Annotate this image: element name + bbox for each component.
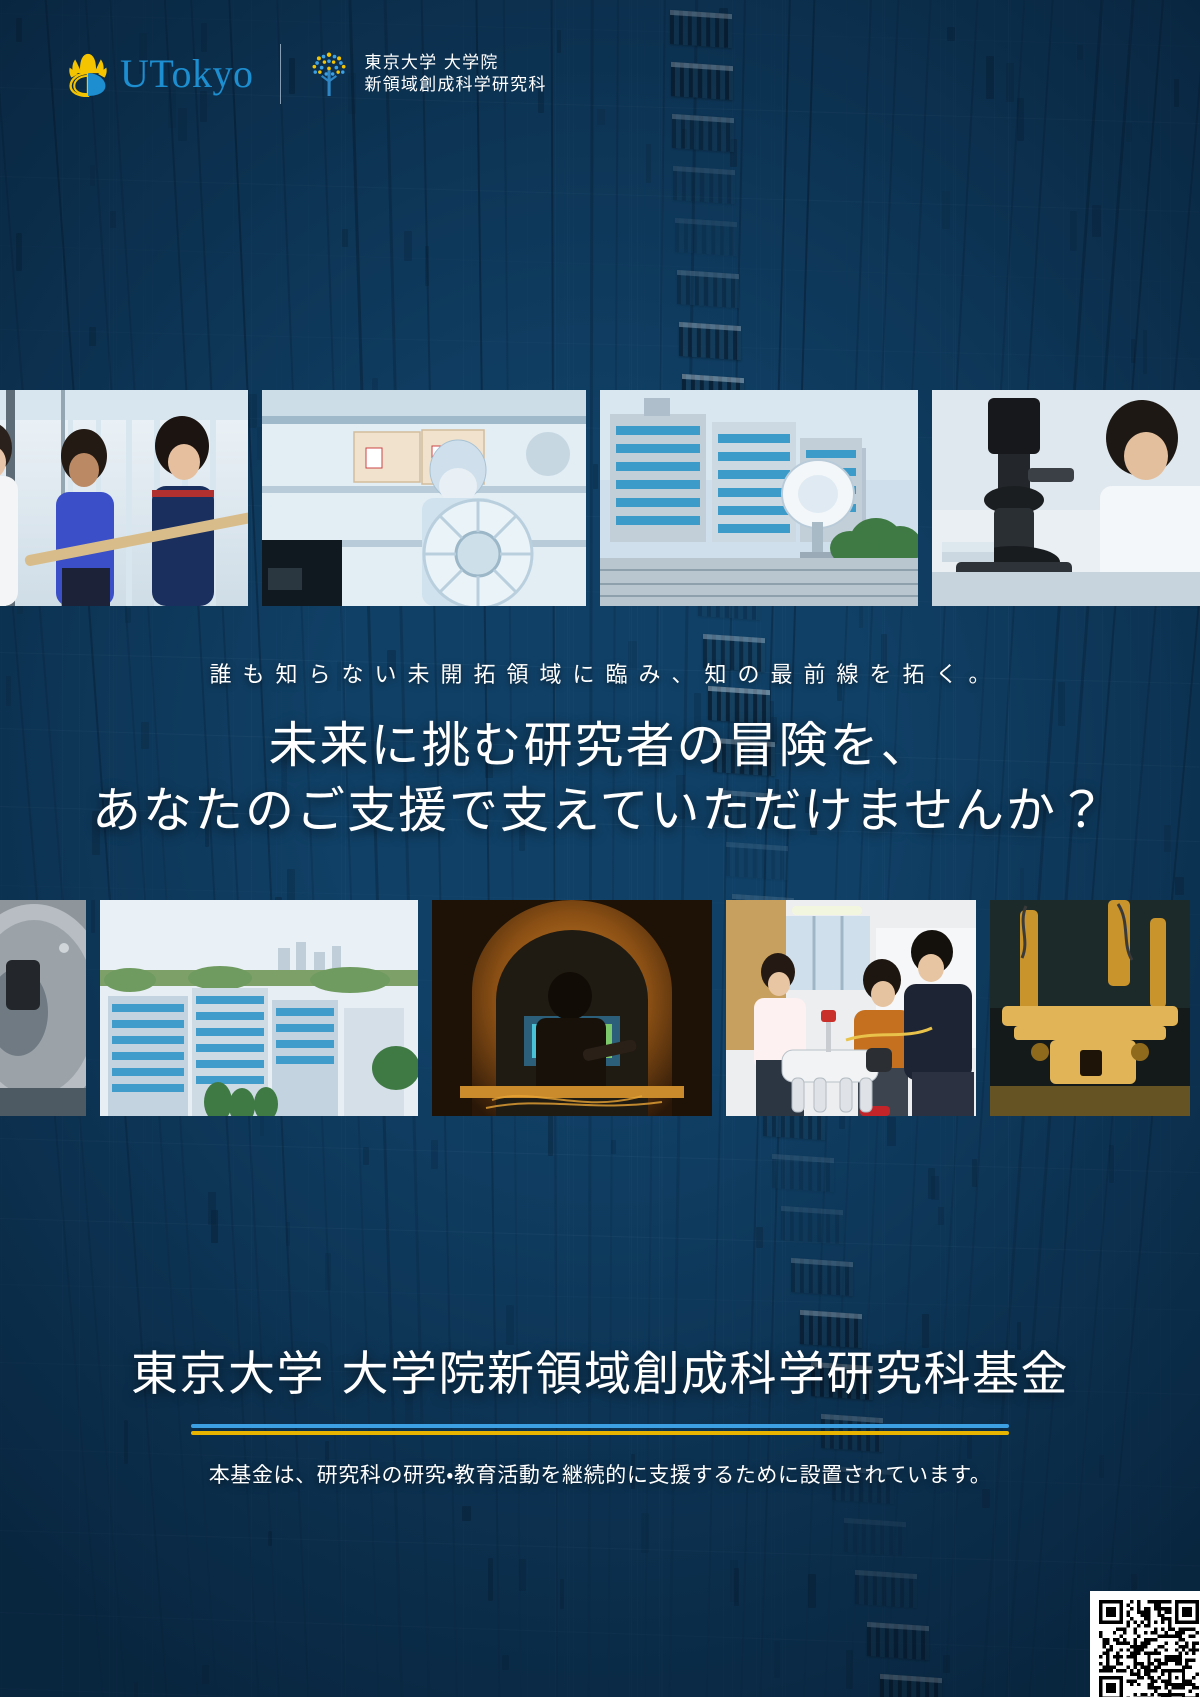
photo-aerial-campus (100, 900, 418, 1116)
utokyo-wordmark: UTokyo (120, 54, 254, 94)
gsfs-logo-text: 東京大学 大学院 新領域創成科学研究科 (365, 52, 547, 97)
logo-divider (280, 44, 281, 104)
footer-rules (191, 1424, 1009, 1435)
tagline: 誰も知らない未開拓領域に臨み、知の最前線を拓く。 (0, 657, 1200, 689)
photo-engineer-in-tunnel-chamber (432, 900, 712, 1116)
rule-blue (191, 1424, 1009, 1428)
photo-gold-cryostat-apparatus (990, 900, 1190, 1116)
photo-students-with-quadruped-robot (726, 900, 976, 1116)
photo-campus-with-satellite-dish (600, 390, 918, 606)
photo-researcher-in-cleanroom (262, 390, 586, 606)
photo-strip-bottom (0, 900, 1200, 1116)
fund-title: 東京大学 大学院新領域創成科学研究科基金 (0, 1335, 1200, 1404)
photo-strip-top (0, 390, 1200, 606)
poster-root: UTokyo (0, 0, 1200, 1697)
rule-gold (191, 1431, 1009, 1435)
footer: 東京大学 大学院新領域創成科学研究科基金 本基金は、研究科の研究・教育活動を継続… (0, 1335, 1200, 1489)
headline-line-1: 未来に挑む研究者の冒険を、 (0, 715, 1200, 778)
utokyo-logo[interactable]: UTokyo (66, 51, 254, 97)
headline-line-2: あなたのご支援で支えていただけませんか？ (0, 778, 1200, 844)
fund-note: 本基金は、研究科の研究・教育活動を継続的に支援するために設置されています。 (0, 1459, 1200, 1489)
photo-students-talking-in-atrium (0, 390, 248, 606)
tree-icon (307, 49, 351, 99)
gsfs-logo-line1: 東京大学 大学院 (365, 52, 547, 74)
header-logos: UTokyo (66, 44, 547, 104)
headline: 未来に挑む研究者の冒険を、 あなたのご支援で支えていただけませんか？ (0, 715, 1200, 843)
ginkgo-leaf-icon (66, 51, 110, 97)
photo-vacuum-chamber-door (0, 900, 86, 1116)
qr-code[interactable] (1090, 1591, 1200, 1697)
photo-researcher-at-microscope (932, 390, 1200, 606)
gsfs-logo[interactable]: 東京大学 大学院 新領域創成科学研究科 (307, 49, 547, 99)
gsfs-logo-line2: 新領域創成科学研究科 (365, 74, 547, 96)
